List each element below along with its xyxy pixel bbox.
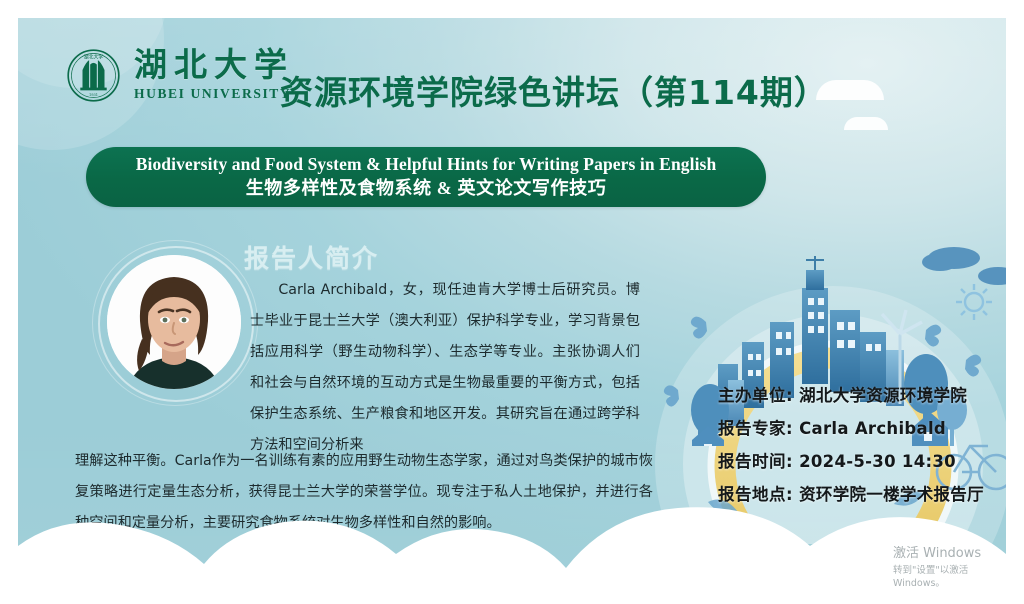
university-name-en: HUBEI UNIVERSITY (134, 87, 294, 101)
poster-canvas: 湖北大学 1931 湖北大学 HUBEI UNIVERSITY 资源环境学院绿色… (18, 18, 1006, 588)
bottom-cloud-hills (18, 468, 1006, 588)
lecture-title-cn: 生物多样性及食物系统 & 英文论文写作技巧 (246, 177, 607, 200)
hubei-university-seal-icon: 湖北大学 1931 (66, 48, 121, 103)
university-name-cn: 湖北大学 (134, 50, 294, 83)
event-info-value: 湖北大学资源环境学院 (799, 382, 967, 406)
university-name-block: 湖北大学 HUBEI UNIVERSITY (134, 50, 294, 101)
event-info-row-organizer: 主办单位: 湖北大学资源环境学院 (718, 382, 984, 406)
event-info-label: 主办单位: (718, 382, 793, 406)
svg-text:湖北大学: 湖北大学 (84, 53, 104, 60)
event-info-row-speaker: 报告专家: Carla Archibald (718, 415, 984, 439)
bio-section-heading: 报告人简介 (244, 239, 379, 275)
bio-paragraph-1: Carla Archibald，女，现任迪肯大学博士后研究员。博士毕业于昆士兰大… (250, 275, 640, 461)
lecture-title-banner: Biodiversity and Food System & Helpful H… (86, 147, 766, 207)
event-info-label: 报告专家: (718, 415, 793, 439)
university-logo: 湖北大学 1931 湖北大学 HUBEI UNIVERSITY (66, 48, 294, 103)
svg-text:1931: 1931 (89, 93, 98, 97)
sun-icon (956, 284, 992, 320)
event-info-value: Carla Archibald (799, 419, 946, 438)
lecture-title-en: Biodiversity and Food System & Helpful H… (136, 155, 717, 174)
speaker-portrait (107, 255, 241, 389)
page-title: 资源环境学院绿色讲坛（第114期） (280, 66, 828, 114)
poster-header: 湖北大学 1931 湖北大学 HUBEI UNIVERSITY 资源环境学院绿色… (18, 18, 1006, 136)
